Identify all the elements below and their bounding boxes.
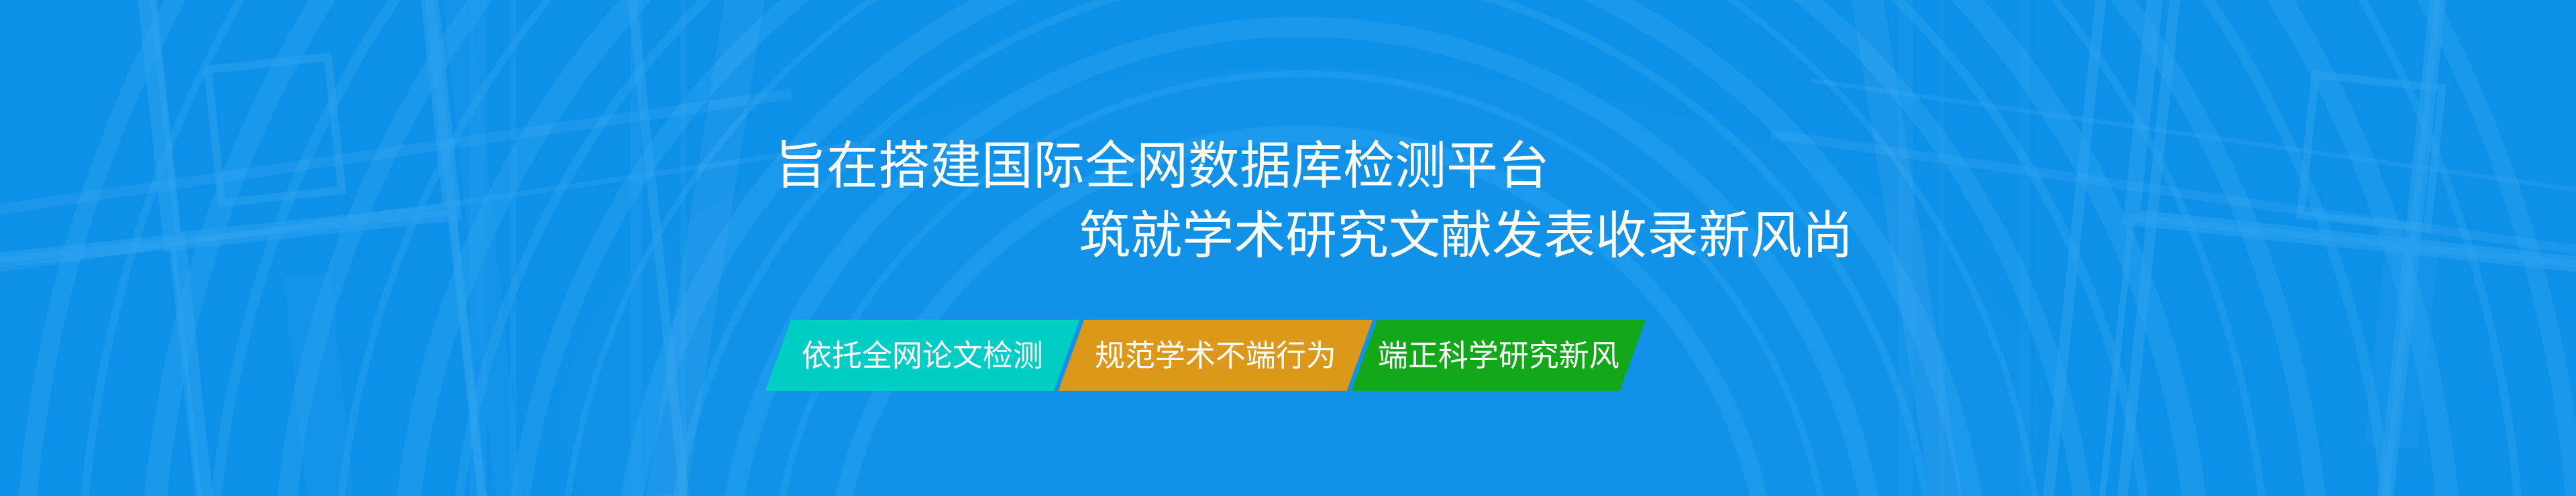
feature-tag-strip: 依托全网论文检测 规范学术不端行为 端正科学研究新风 xyxy=(778,320,1633,391)
feature-tag-research-ethos[interactable]: 端正科学研究新风 xyxy=(1352,320,1646,391)
headline-line-1: 旨在搭建国际全网数据库检测平台 xyxy=(775,131,2576,201)
feature-tag-paper-detection[interactable]: 依托全网论文检测 xyxy=(765,320,1080,391)
promo-banner: 旨在搭建国际全网数据库检测平台 筑就学术研究文献发表收录新风尚 依托全网论文检测… xyxy=(0,0,2576,496)
feature-tag-label: 端正科学研究新风 xyxy=(1378,340,1619,371)
headline-block: 旨在搭建国际全网数据库检测平台 筑就学术研究文献发表收录新风尚 xyxy=(0,131,2576,271)
feature-tag-label: 规范学术不端行为 xyxy=(1095,340,1336,371)
feature-tag-label: 依托全网论文检测 xyxy=(802,340,1043,371)
feature-tag-academic-misconduct[interactable]: 规范学术不端行为 xyxy=(1059,320,1373,391)
headline-line-2: 筑就学术研究文献发表收录新风尚 xyxy=(1079,201,2576,271)
